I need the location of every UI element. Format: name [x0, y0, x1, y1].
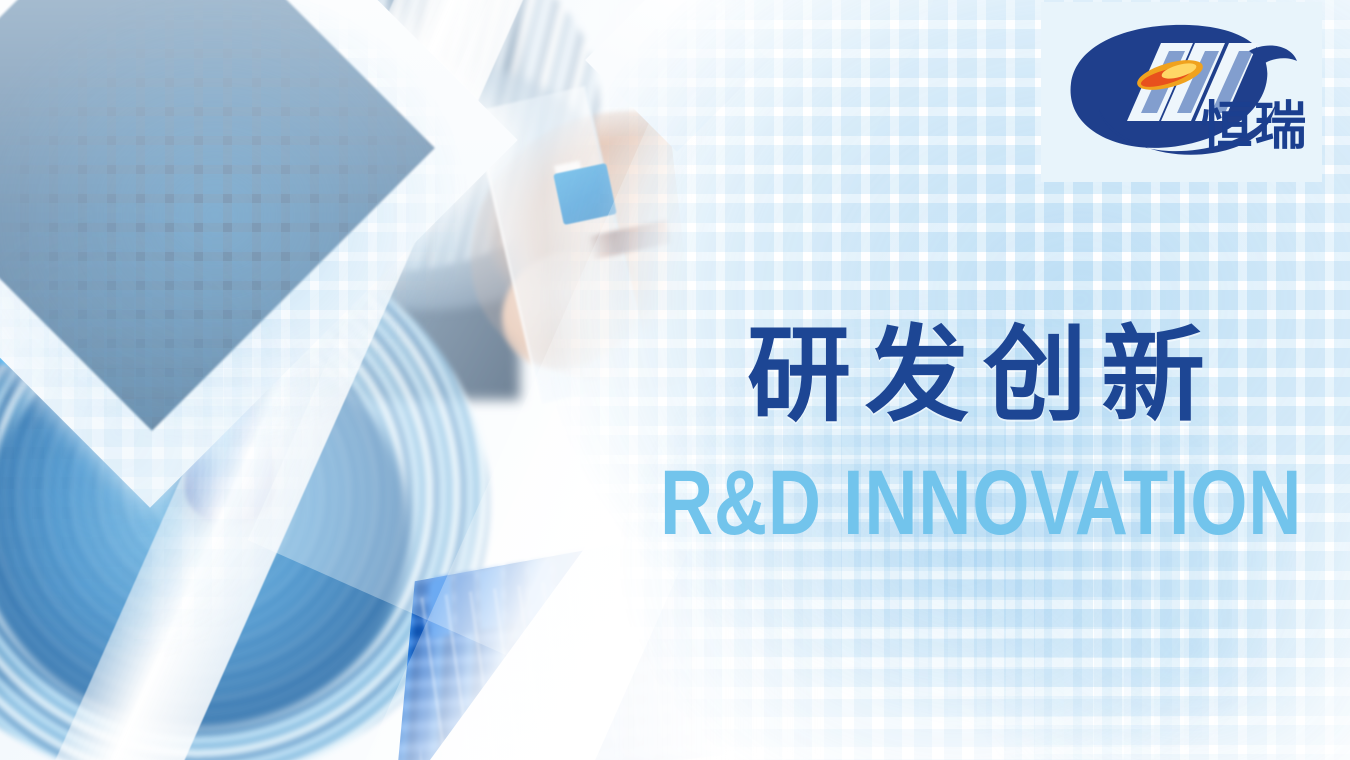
page-title: 研发创新 — [747, 324, 1219, 428]
brand-logo[interactable]: 恒瑞 — [1041, 2, 1322, 182]
logo-brand-text: 恒瑞 — [1200, 101, 1308, 153]
brand-banner: 研发创新 R&D INNOVATION — [0, 0, 1350, 760]
logo-inner: 恒瑞 — [1053, 17, 1311, 167]
page-subtitle: R&D INNOVATION — [660, 457, 1302, 549]
